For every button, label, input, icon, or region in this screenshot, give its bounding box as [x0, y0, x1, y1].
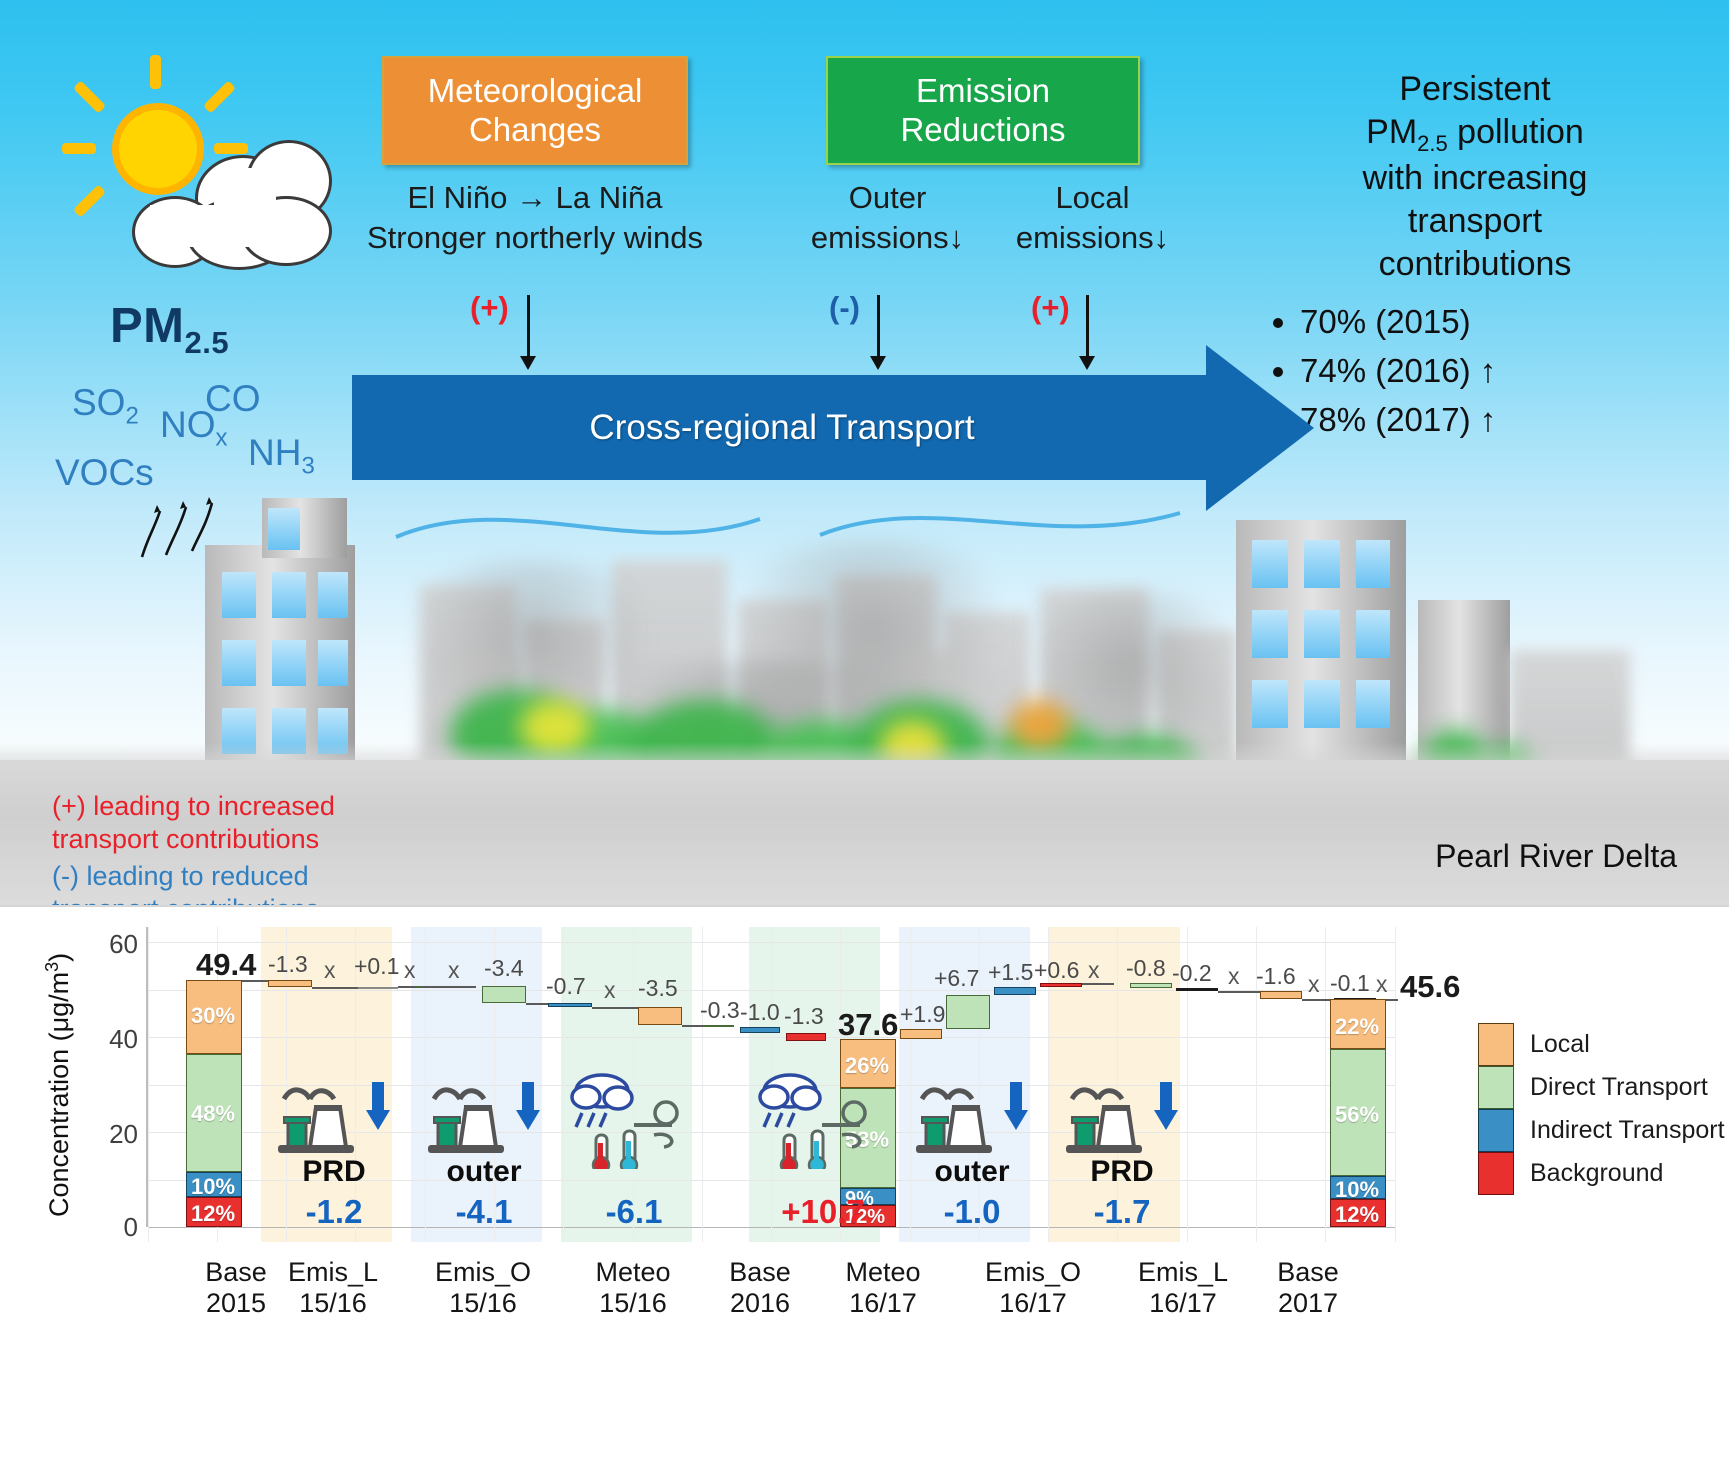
met-sub-line2: Stronger northerly winds — [330, 218, 740, 258]
transport-arrow-head — [1206, 345, 1314, 511]
xtick-emisO-1516: Emis_O 15/16 — [418, 1257, 548, 1320]
xtick-emisO-1516-l2: 15/16 — [418, 1288, 548, 1319]
delta-meteo-1516: -6.1 — [574, 1193, 694, 1231]
note-plus-line2: transport contributions — [52, 824, 319, 854]
xtick-meteo-1516-l1: Meteo — [568, 1257, 698, 1288]
conclusion-line4: transport — [1240, 200, 1710, 243]
wf-emisL1617-direct-label: x — [1308, 971, 1320, 998]
bar-2017-indirect: 10% — [1330, 1176, 1386, 1199]
down-arrow-icon-emisL-1516 — [364, 1082, 392, 1134]
factory-icon-emisO-1516 — [426, 1077, 522, 1153]
y-axis-label-exp: 3 — [42, 962, 62, 972]
legend-item-local[interactable]: Local — [1478, 1023, 1725, 1066]
xtick-meteo-1617-l2: 16/17 — [818, 1288, 948, 1319]
factory-icon-emisL-1617 — [1064, 1077, 1160, 1153]
xtick-meteo-1516: Meteo 15/16 — [568, 1257, 698, 1320]
wf-meteo1617-direct — [946, 995, 990, 1029]
legend-swatch-direct — [1478, 1066, 1514, 1109]
wf-meteo1516-local-label: -3.5 — [638, 975, 678, 1002]
scenario-label-emisL-1516: PRD — [276, 1155, 392, 1189]
species-so2: SO2 — [72, 382, 139, 430]
pm25-label: PM2.5 — [110, 298, 229, 361]
arrow-down-local — [1086, 295, 1089, 357]
legend-item-indirect-transport[interactable]: Indirect Transport — [1478, 1109, 1725, 1152]
y-axis-label-tail: ) — [44, 953, 74, 962]
bar-2015-bg-pct: 12% — [191, 1201, 235, 1227]
wf-emisO1516-direct — [482, 986, 526, 1003]
total-2017-label: 45.6 — [1400, 969, 1460, 1005]
xtick-emisO-1617-l1: Emis_O — [968, 1257, 1098, 1288]
legend-label-indirect: Indirect Transport — [1530, 1116, 1725, 1145]
delta-emisL-1617: -1.7 — [1062, 1193, 1182, 1231]
wf-emisO1617-direct — [1130, 983, 1172, 988]
wf-emisL1617-local — [1260, 991, 1302, 999]
legend-swatch-indirect — [1478, 1109, 1514, 1152]
xtick-base-2017-l2: 2017 — [1248, 1288, 1368, 1319]
wf-emisL1617-bg-label: x — [1376, 971, 1388, 998]
bullet-2016: 74% (2016) ↑ — [1300, 347, 1718, 394]
local-emissions-subtext: Local emissions↓ — [995, 178, 1190, 257]
xtick-emisO-1516-l1: Emis_O — [418, 1257, 548, 1288]
conclusion-line3: with increasing — [1240, 157, 1710, 200]
met-sub-line1: El Niño → La Niña — [330, 178, 740, 218]
wf-emisL1516-direct-label: x — [324, 957, 336, 984]
note-minus-line1: (-) leading to reduced — [52, 861, 309, 891]
wf-emisO1617-local-label: x — [1088, 957, 1100, 984]
species-co: CO — [205, 378, 261, 420]
sign-positive-local: (+) — [1031, 290, 1070, 326]
wind-wave-top-icon — [390, 495, 1250, 575]
down-arrow-icon-emisO-1516 — [514, 1082, 542, 1134]
bar-2015-background: 12% — [186, 1197, 242, 1227]
wf-emisO1617-indirect-label: -0.2 — [1172, 960, 1212, 987]
wf-meteo1516-bg — [786, 1033, 826, 1041]
bullet-2017: 78% (2017) ↑ — [1300, 396, 1718, 443]
local-sub-line1: Local — [995, 178, 1190, 218]
bar-2015-direct-pct: 48% — [191, 1101, 235, 1127]
legend-swatch-local — [1478, 1023, 1514, 1066]
xtick-meteo-1617-l1: Meteo — [818, 1257, 948, 1288]
outer-sub-line1: Outer — [790, 178, 985, 218]
place-label: Pearl River Delta — [1435, 838, 1677, 875]
legend-label-direct: Direct Transport — [1530, 1073, 1708, 1102]
wf-emisO1516-bg-label: x — [604, 977, 616, 1004]
chart-panel: 30% 48% 10% 12% 49.4 -1.3 x +0.1 x — [0, 905, 1729, 1478]
xtick-base-2016-l1: Base — [700, 1257, 820, 1288]
ytick-0: 0 — [78, 1212, 138, 1243]
wf-meteo1516-indirect-label: -1.0 — [740, 999, 780, 1026]
conclusion-line2: PM2.5 pollution — [1240, 111, 1710, 158]
legend-item-background[interactable]: Background — [1478, 1152, 1725, 1195]
transport-share-bullets: 70% (2015) 74% (2016) ↑ 78% (2017) ↑ — [1258, 298, 1718, 446]
wf-emisL1516-bg-label: x — [404, 957, 416, 984]
wf-emisO1516-direct-label: -3.4 — [484, 955, 524, 982]
wf-meteo1617-direct-label: +6.7 — [934, 965, 979, 992]
sign-positive-meteo: (+) — [470, 290, 509, 326]
arrow-down-meteo — [527, 295, 530, 357]
wf-meteo1617-indirect-label: +1.5 — [988, 959, 1033, 986]
outer-sub-line2: emissions↓ — [790, 218, 985, 258]
xtick-emisL-1516-l2: 15/16 — [268, 1288, 398, 1319]
wf-emisL1617-local-label: -1.6 — [1256, 963, 1296, 990]
xtick-emisL-1617-l1: Emis_L — [1118, 1257, 1248, 1288]
pm25-text: PM — [110, 299, 185, 353]
wf-meteo1516-direct — [704, 1025, 734, 1027]
bar-2015-local-pct: 30% — [191, 1003, 235, 1029]
xtick-emisL-1516-l1: Emis_L — [268, 1257, 398, 1288]
xtick-base-2017: Base 2017 — [1248, 1257, 1368, 1320]
xtick-emisL-1516: Emis_L 15/16 — [268, 1257, 398, 1320]
arrow-down-outer — [877, 295, 880, 357]
down-arrow-icon-emisO-1617 — [1002, 1082, 1030, 1134]
wf-meteo1516-bg-label: -1.3 — [784, 1003, 824, 1030]
nox-sub: x — [216, 424, 228, 451]
pm25-subscript: 2.5 — [185, 325, 230, 360]
xtick-base-2016-l2: 2016 — [700, 1288, 820, 1319]
legend-swatch-background — [1478, 1152, 1514, 1195]
conclusion-line1: Persistent — [1240, 68, 1710, 111]
local-sub-line2: emissions↓ — [995, 218, 1190, 258]
conclusion-pollution: pollution — [1448, 113, 1584, 151]
chart-legend: Local Direct Transport Indirect Transpor… — [1478, 1023, 1725, 1195]
bar-2015-direct: 48% — [186, 1054, 242, 1172]
wf-emisL1516-local-label: -1.3 — [268, 951, 308, 978]
emi-box-line1: Emission — [900, 72, 1065, 111]
meteorological-subtext: El Niño → La Niña Stronger northerly win… — [330, 178, 740, 257]
met-box-line1: Meteorological — [428, 72, 643, 111]
legend-label-background: Background — [1530, 1159, 1663, 1188]
so2-sub: 2 — [125, 402, 138, 429]
wf-meteo1516-direct-label: -0.3 — [700, 997, 740, 1024]
sign-negative-outer: (-) — [829, 290, 860, 326]
total-2015-label: 49.4 — [196, 947, 256, 983]
down-arrow-icon-emisL-1617 — [1152, 1082, 1180, 1134]
xtick-emisO-1617: Emis_O 16/17 — [968, 1257, 1098, 1320]
xtick-emisL-1617-l2: 16/17 — [1118, 1288, 1248, 1319]
conclusion-pm: PM — [1366, 113, 1417, 151]
met-box-line2: Changes — [428, 111, 643, 150]
nh3-sub: 3 — [301, 452, 314, 479]
legend-item-direct-transport[interactable]: Direct Transport — [1478, 1066, 1725, 1109]
bar-2017-local: 22% — [1330, 999, 1386, 1049]
species-nh3: NH3 — [248, 432, 315, 480]
wf-meteo1617-indirect — [994, 987, 1036, 995]
total-2016-label: 37.6 — [838, 1007, 898, 1043]
wf-emisO1617-direct-label: -0.8 — [1126, 955, 1166, 982]
xtick-meteo-1617: Meteo 16/17 — [818, 1257, 948, 1320]
meteorological-changes-box[interactable]: Meteorological Changes — [382, 56, 688, 165]
outer-emissions-subtext: Outer emissions↓ — [790, 178, 985, 257]
wf-emisO1617-bg-label: x — [1228, 963, 1240, 990]
bar-2017-local-pct: 22% — [1335, 1014, 1379, 1040]
bar-2017-background: 12% — [1330, 1199, 1386, 1227]
xtick-emisO-1617-l2: 16/17 — [968, 1288, 1098, 1319]
y-axis-label: Concentration (μg/m3) — [42, 953, 75, 1217]
wf-meteo1617-bg-label: +0.6 — [1034, 957, 1079, 984]
wf-meteo1516-local — [638, 1007, 682, 1025]
bar-2017-direct: 56% — [1330, 1049, 1386, 1176]
ytick-40: 40 — [78, 1024, 138, 1055]
scenario-label-emisO-1516: outer — [426, 1155, 542, 1189]
wf-emisO1516-indirect-label: -0.7 — [546, 973, 586, 1000]
plot-area: 30% 48% 10% 12% 49.4 -1.3 x +0.1 x — [148, 927, 1396, 1242]
wf-meteo1516-indirect — [740, 1027, 780, 1033]
ytick-20: 20 — [78, 1119, 138, 1150]
conclusion-title: Persistent PM2.5 pollution with increasi… — [1240, 68, 1710, 286]
wf-meteo1617-local-label: +1.9 — [900, 1001, 945, 1028]
note-plus-line1: (+) leading to increased — [52, 791, 335, 821]
factory-icon-emisL-1516 — [276, 1077, 372, 1153]
so2-text: SO — [72, 382, 125, 423]
transport-arrow-label: Cross-regional Transport — [352, 375, 1212, 480]
delta-emisO-1617: -1.0 — [912, 1193, 1032, 1231]
wf-meteo1617-local — [900, 1029, 942, 1039]
weather-icon-meteo-1617 — [756, 1069, 886, 1169]
wf-emisL1516-indirect-label: +0.1 — [354, 953, 399, 980]
wf-emisO1516-indirect — [548, 1003, 592, 1007]
emi-box-line2: Reductions — [900, 111, 1065, 150]
factory-icon-emisO-1617 — [914, 1077, 1010, 1153]
legend-label-local: Local — [1530, 1030, 1590, 1059]
emission-reductions-box[interactable]: Emission Reductions — [826, 56, 1140, 165]
graphical-abstract: PM2.5 SO2 NOx CO NH3 VOCs Meteorological… — [0, 0, 1729, 1478]
nh3-text: NH — [248, 432, 301, 473]
wf-emisL1516-local — [268, 980, 312, 987]
wf-emisL1617-indirect-label: -0.1 — [1330, 970, 1370, 997]
conclusion-pm-sub: 2.5 — [1417, 131, 1448, 156]
y-axis-label-main: Concentration (μg/m — [44, 972, 74, 1217]
xtick-emisL-1617: Emis_L 16/17 — [1118, 1257, 1248, 1320]
ytick-60: 60 — [78, 929, 138, 960]
delta-emisO-1516: -4.1 — [424, 1193, 544, 1231]
xtick-meteo-1516-l2: 15/16 — [568, 1288, 698, 1319]
bar-2017-direct-pct: 56% — [1335, 1102, 1379, 1128]
weather-icon-meteo-1516 — [568, 1069, 698, 1169]
scenario-label-emisL-1617: PRD — [1064, 1155, 1180, 1189]
bar-2015-local: 30% — [186, 980, 242, 1054]
delta-emisL-1516: -1.2 — [274, 1193, 394, 1231]
bar-2017-bg-pct: 12% — [1335, 1202, 1379, 1228]
wf-emisO1617-indirect — [1176, 988, 1218, 991]
xtick-base-2016: Base 2016 — [700, 1257, 820, 1320]
conclusion-line5: contributions — [1240, 243, 1710, 286]
delta-meteo-1617: +10.7 — [760, 1193, 886, 1231]
bullet-2015: 70% (2015) — [1300, 298, 1718, 345]
xtick-base-2017-l1: Base — [1248, 1257, 1368, 1288]
bar-2015-indirect: 10% — [186, 1172, 242, 1197]
wf-emisO1516-local-label: x — [448, 957, 460, 984]
scenario-label-emisO-1617: outer — [914, 1155, 1030, 1189]
